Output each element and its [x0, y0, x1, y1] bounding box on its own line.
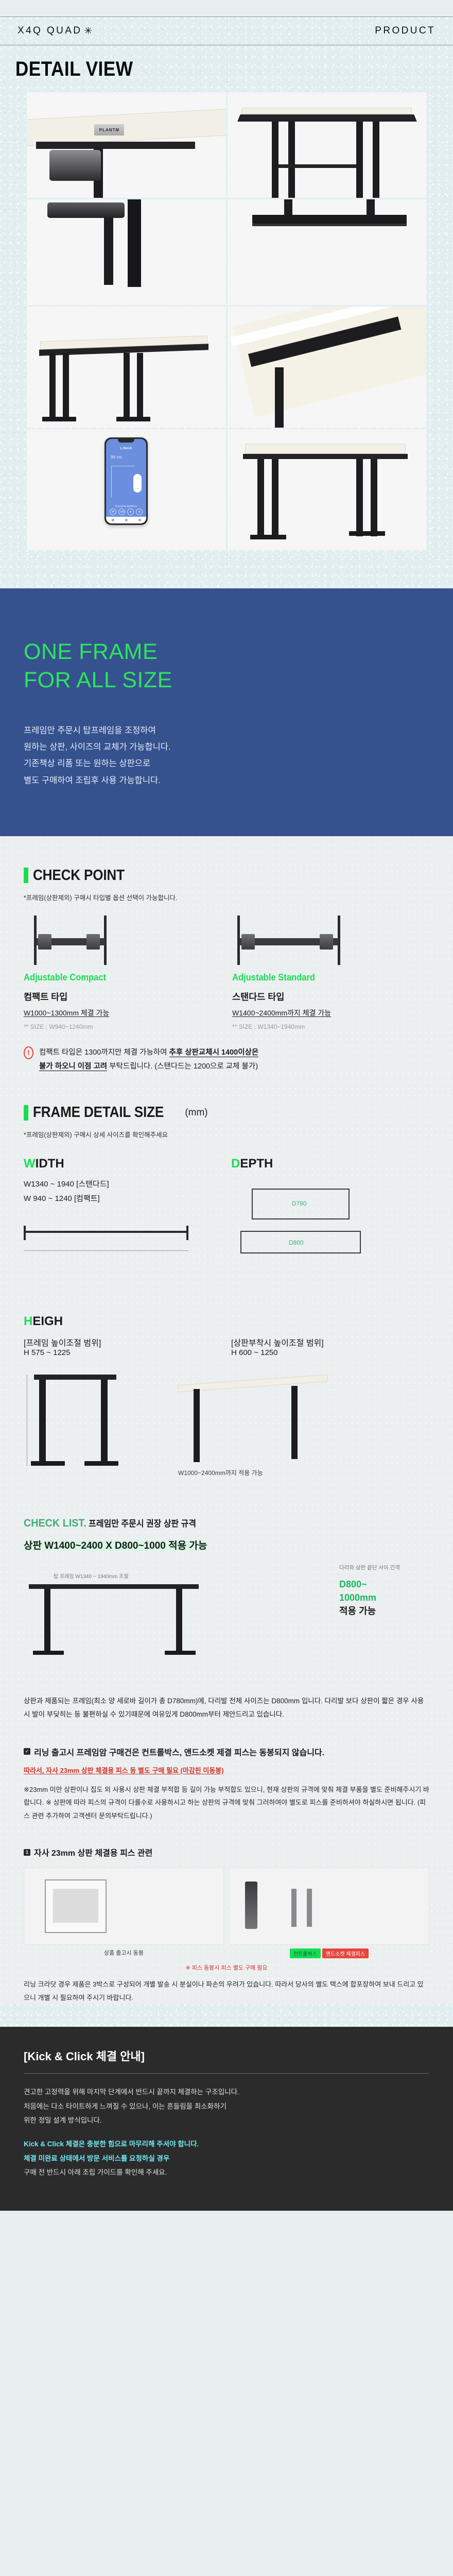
check-list-figure: 탑 프레임 W1340 ~ 1940mm 조절 다리와 상판 끝단 사이 간격 …	[24, 1564, 429, 1687]
hero-body-line3: 기존책상 리폼 또는 원하는 상판으로	[24, 759, 150, 768]
chevron-down-icon[interactable]: ⌄	[136, 486, 139, 490]
info-block-2-heading-text: 자사 23mm 상판 체결용 피스 관련	[34, 1846, 152, 1858]
frame-standard-label: Adjustable Standard	[232, 972, 413, 983]
hero-title: ONE FRAME FOR ALL SIZE	[24, 638, 429, 694]
kick-click-p5: 구매 전 반드시 아래 조립 가이드를 확인해 주세요.	[24, 2165, 429, 2180]
kick-click-p2: 처음에는 다소 타이트하게 느껴질 수 있으나, 이는 흔들림을 최소화하기	[24, 2099, 429, 2114]
favourite-positions-label: Favourite positions	[106, 505, 146, 508]
gallery-item-desk-controller-closeup[interactable]	[27, 199, 226, 305]
tab-settings-icon[interactable]	[138, 519, 141, 521]
hero-body-line2: 원하는 상판, 사이즈의 교체가 가능합니다.	[24, 742, 171, 752]
preset-item[interactable]: ★	[127, 509, 134, 515]
brand-bar: X4Q QUAD ✳ PRODUCT	[0, 16, 453, 45]
kick-click-p3: 위한 정밀 설계 방식입니다.	[24, 2113, 429, 2128]
warning-bold-1: 추후 상판교체시 1400이상은	[169, 1048, 259, 1057]
divider	[24, 2073, 429, 2074]
brand-logo: X4Q QUAD ✳	[18, 25, 94, 37]
photo-bottom-caption: ※ 피스 동봉시 피스 별도 구매 필요	[24, 1963, 429, 1972]
width-label: WIDTH	[24, 1157, 222, 1171]
depth-inner-value: D780	[292, 1200, 307, 1207]
preset-item[interactable]: 140	[118, 509, 125, 515]
frame-detail-heading: FRAME DETAIL SIZE (mm)	[24, 1104, 429, 1121]
gallery-item-desk-full-angle[interactable]	[27, 307, 226, 428]
check-point-title: CHECK POINT	[33, 867, 125, 884]
kick-click-heading: [Kick & Click 체결 안내]	[24, 2047, 429, 2064]
width-block: WIDTH W1340 ~ 1940 [스탠다드] W 940 ~ 1240 […	[24, 1157, 222, 1291]
heigh-right-value: H 600 ~ 1250	[231, 1348, 429, 1357]
frame-type-standard[interactable]: Adjustable Standard 스탠다드 타입 W1400~2400mm…	[232, 913, 429, 1030]
frame-compact-range-text: W1000~1300mm 체결 가능	[24, 1009, 109, 1017]
heigh-diagram: W1000~2400mm까지 적용 가능	[24, 1365, 429, 1476]
frame-type-compare: Adjustable Compact 컴팩트 타입 W1000~1300mm 체…	[24, 913, 429, 1030]
check-icon: ✓	[24, 1748, 30, 1755]
frame-type-compact[interactable]: Adjustable Compact 컴팩트 타입 W1000~1300mm 체…	[24, 913, 221, 1030]
info-block-1-paragraph: ※23mm 미만 상판이나 집도 외 사용시 상판 체결 부적합 등 길이 가능…	[24, 1783, 429, 1822]
heigh-values: [프레임 높이조절 범위] H 575 ~ 1225 [상판부착시 높이조절 범…	[24, 1336, 429, 1357]
photo-right-caption: 컨트롤박스 앤드소켓 체결피스	[229, 1948, 429, 1958]
number-icon: 1	[24, 1849, 30, 1856]
frame-compact-type: 컴팩트 타입	[24, 990, 221, 1003]
width-value-standard: W1340 ~ 1940 [스탠다드]	[24, 1177, 222, 1192]
callout-line2: 1000mm	[339, 1592, 376, 1603]
phone-notch	[118, 439, 134, 443]
gallery-item-desk-top-edge-closeup[interactable]	[228, 307, 427, 428]
photo-right-wrap: 컨트롤박스 앤드소켓 체결피스	[229, 1868, 429, 1958]
kick-click-cyan-2: 체결 미완료 상태에서 방문 서비스를 요청하실 경우	[24, 2151, 429, 2166]
depth-outer-value: D800	[289, 1239, 304, 1246]
heigh-right: [상판부착시 높이조절 범위] H 600 ~ 1250	[231, 1336, 429, 1357]
photo-box-package[interactable]	[24, 1868, 224, 1945]
phone-mockup: LINAK 84 cm ⌃ ⌄ Favourite positions 84 1…	[104, 437, 148, 525]
depth-diagram: D780 D800	[231, 1183, 429, 1276]
callout-line3: 적용 가능	[339, 1606, 376, 1616]
heigh-left-sub: [프레임 높이조절 범위]	[24, 1336, 222, 1348]
hero-body-line1: 프레임만 주문시 탑프레임을 조정하여	[24, 726, 156, 735]
callout-line1: D800~	[339, 1579, 367, 1589]
check-list-callout: 다리와 상판 끝단 사이 간격 D800~ 1000mm 적용 가능	[339, 1564, 429, 1618]
kick-click-p1: 견고한 고정력을 위해 마지막 단계에서 반드시 끝까지 체결하는 구조입니다.	[24, 2085, 429, 2099]
desk-height-readout: 84 cm	[111, 455, 122, 460]
preset-list: 84 140 ★ ★	[106, 509, 146, 515]
frame-standard-type: 스탠다드 타입	[232, 990, 429, 1003]
tab-controls-icon[interactable]	[112, 519, 114, 521]
callout-big-text: D800~ 1000mm 적용 가능	[339, 1578, 429, 1618]
accent-bar-icon	[24, 1105, 28, 1121]
width-label-initial: W	[24, 1157, 36, 1171]
sparkle-icon: ✳	[84, 26, 94, 36]
caption-badge-green: 컨트롤박스	[290, 1948, 321, 1958]
heigh-left-value: H 575 ~ 1225	[24, 1348, 222, 1357]
linak-app-logo: LINAK	[106, 447, 146, 450]
preset-item[interactable]: 84	[110, 509, 116, 515]
frame-standard-image	[232, 913, 429, 969]
depth-label-initial: D	[231, 1157, 240, 1171]
photo-left-caption: 상품 출고시 동봉	[24, 1948, 224, 1957]
heigh-right-sub: [상판부착시 높이조절 범위]	[231, 1336, 429, 1348]
check-list-title-ko: 프레임만 주문시 권장 상판 규격	[86, 1519, 196, 1529]
gallery-item-desk-underside-logo[interactable]: PLANTM	[27, 92, 226, 198]
check-list-section: CHECK LIST. 프레임만 주문시 권장 상판 규격 상판 W1400~2…	[0, 1476, 453, 1722]
frame-detail-section: FRAME DETAIL SIZE (mm) *프레임(상판제외) 구매시 상세…	[0, 1073, 453, 1476]
phone-screen: LINAK 84 cm ⌃ ⌄ Favourite positions 84 1…	[106, 439, 146, 523]
height-stepper[interactable]: ⌃ ⌄	[133, 474, 142, 493]
heigh-width-note: W1000~2400mm까지 적용 가능	[178, 1468, 263, 1477]
kick-click-cyan-1: Kick & Click 체결은 충분한 힘으로 마무리해 주셔야 합니다.	[24, 2137, 429, 2151]
heigh-label-initial: H	[24, 1314, 32, 1328]
hero-title-line1: ONE FRAME	[24, 639, 158, 664]
check-list-body: 상판과 제품되는 프레임(최소 양 세로바 길이가 총 D780mm)에, 다리…	[24, 1694, 429, 1722]
exclamation-circle-icon: !	[24, 1046, 33, 1059]
check-point-note: *프레임(상판제외) 구매시 타입별 옵션 선택이 가능합니다.	[24, 892, 429, 902]
check-point-warning-text: 컴팩트 타입은 1300까지만 체결 가능하여 추후 상판교체시 1400이상은…	[39, 1046, 258, 1074]
width-depth-row: WIDTH W1340 ~ 1940 [스탠다드] W 940 ~ 1240 […	[24, 1157, 429, 1291]
page-title: DETAIL VIEW	[0, 45, 398, 92]
depth-label-rest: EPTH	[240, 1157, 273, 1171]
warning-bold-2: 불가 하오니 이점 고려	[39, 1062, 107, 1071]
info-block-1-bold: 따라서, 자사 23mm 상판 체결용 피스 등 별도 구매 필요 (마감핀 미…	[24, 1764, 429, 1777]
product-gallery: PLANTM	[0, 92, 453, 550]
warning-plain-1: 컴팩트 타입은 1300까지만 체결 가능하여	[39, 1048, 169, 1057]
check-point-warning: ! 컴팩트 타입은 1300까지만 체결 가능하여 추후 상판교체시 1400이…	[24, 1046, 429, 1074]
width-values: W1340 ~ 1940 [스탠다드] W 940 ~ 1240 [컴팩트]	[24, 1177, 222, 1206]
frame-compact-label: Adjustable Compact	[24, 972, 205, 983]
width-value-compact: W 940 ~ 1240 [컴팩트]	[24, 1192, 222, 1206]
frame-detail-unit: (mm)	[185, 1107, 207, 1118]
heigh-left: [프레임 높이조절 범위] H 575 ~ 1225	[24, 1336, 222, 1357]
chevron-up-icon[interactable]: ⌃	[136, 477, 139, 481]
photo-left-wrap: 상품 출고시 동봉	[24, 1868, 224, 1958]
frame-compact-range: W1000~1300mm 체결 가능	[24, 1008, 221, 1018]
accent-bar-icon	[24, 868, 28, 883]
info-block-2-paragraph: 리닝 크라닷 경우 제품은 3박스로 구성되어 개별 발송 시 분실이나 파손의…	[24, 1978, 429, 2004]
heigh-label-rest: EIGH	[32, 1314, 63, 1328]
width-label-rest: IDTH	[36, 1157, 64, 1171]
brand-name: X4Q QUAD	[18, 25, 82, 37]
product-label: PRODUCT	[375, 25, 435, 37]
frame-compact-size: ** SIZE : W940~1240mm	[24, 1023, 221, 1030]
info-block-2: 1 자사 23mm 상판 체결용 피스 관련 상품 출고시 동봉 컨트롤박스	[0, 1822, 453, 2004]
check-list-title: CHECK LIST. 프레임만 주문시 권장 상판 규격	[24, 1516, 405, 1530]
gallery-item-desk-foot-base[interactable]	[228, 199, 427, 305]
gallery-item-linak-app-phone[interactable]: LINAK 84 cm ⌃ ⌄ Favourite positions 84 1…	[27, 429, 226, 550]
depth-block: DEPTH D780 D800	[231, 1157, 429, 1291]
hero-banner: ONE FRAME FOR ALL SIZE 프레임만 주문시 탑프레임을 조정…	[0, 588, 453, 836]
check-list-main: 상판 W1400~2400 X D800~1000 적용 가능	[24, 1538, 429, 1554]
frame-detail-note: *프레임(상판제외) 구매시 상세 사이즈를 확인해주세요	[24, 1129, 429, 1139]
gallery-item-desk-white-top-perspective[interactable]	[228, 429, 427, 550]
check-list-main-text: 상판 W1400~2400 X D800~1000 적용 가능	[24, 1540, 207, 1551]
info-block-1-heading-text: 리닝 출고시 프레임암 구매건은 컨트롤박스, 앤드소켓 제결 피스는 동봉되지…	[34, 1745, 324, 1758]
frame-standard-range: W1400~2400mm까지 체결 가능	[232, 1008, 429, 1018]
kick-click-section: [Kick & Click 체결 안내] 견고한 고정력을 위해 마지막 단계에…	[0, 2027, 453, 2211]
check-point-heading: CHECK POINT	[24, 867, 429, 884]
info-block-1: ✓ 리닝 출고시 프레임암 구매건은 컨트롤박스, 앤드소켓 제결 피스는 동봉…	[0, 1722, 453, 1822]
frame-standard-range-text: W1400~2400mm까지 체결 가능	[232, 1009, 331, 1017]
preset-item[interactable]: ★	[136, 509, 143, 515]
frame-standard-size: ** SIZE : W1340~1940mm	[232, 1023, 429, 1030]
caption-badge-red: 앤드소켓 체결피스	[322, 1948, 369, 1958]
depth-label: DEPTH	[231, 1157, 429, 1171]
plantm-badge: PLANTM	[94, 124, 124, 135]
callout-small-text: 다리와 상판 끝단 사이 간격	[339, 1564, 429, 1572]
hero-body: 프레임만 주문시 탑프레임을 조정하여 원하는 상판, 사이즈의 교체가 가능합…	[24, 722, 429, 789]
phone-tab-bar[interactable]	[106, 517, 146, 523]
frame-detail-title: FRAME DETAIL SIZE	[33, 1104, 164, 1121]
topframe-dim-label: 탑 프레임 W1340 ~ 1940mm 조절	[54, 1572, 129, 1580]
info-block-1-bold-text: 따라서, 자사 23mm 상판 체결용 피스 등 별도 구매 필요 (마감핀 미…	[24, 1767, 224, 1774]
check-point-section: CHECK POINT *프레임(상판제외) 구매시 타입별 옵션 선택이 가능…	[0, 836, 453, 1074]
hero-body-line4: 별도 구매하여 조립후 사용 가능합니다.	[24, 776, 161, 785]
tab-reminder-icon[interactable]	[125, 519, 128, 521]
frame-compact-image	[24, 913, 221, 969]
width-diagram	[24, 1213, 222, 1291]
hero-title-line2: FOR ALL SIZE	[24, 668, 172, 692]
product-detail-page: X4Q QUAD ✳ PRODUCT DETAIL VIEW PLANTM	[0, 16, 453, 2211]
info-block-2-heading: 1 자사 23mm 상판 체결용 피스 관련	[24, 1846, 429, 1858]
info-block-1-heading: ✓ 리닝 출고시 프레임암 구매건은 컨트롤박스, 앤드소켓 제결 피스는 동봉…	[24, 1745, 429, 1758]
heigh-block: HEIGH [프레임 높이조절 범위] H 575 ~ 1225 [상판부착시 …	[24, 1314, 429, 1476]
check-list-title-en: CHECK LIST.	[24, 1517, 86, 1529]
heigh-label: HEIGH	[24, 1314, 429, 1329]
warning-plain-2: 부탁드립니다. (스탠다드는 1200으로 교체 불가)	[107, 1062, 258, 1071]
info-block-2-photos: 상품 출고시 동봉 컨트롤박스 앤드소켓 체결피스	[24, 1868, 429, 1958]
photo-box-parts[interactable]	[229, 1868, 429, 1945]
gallery-item-desk-frame-front[interactable]	[228, 92, 427, 198]
